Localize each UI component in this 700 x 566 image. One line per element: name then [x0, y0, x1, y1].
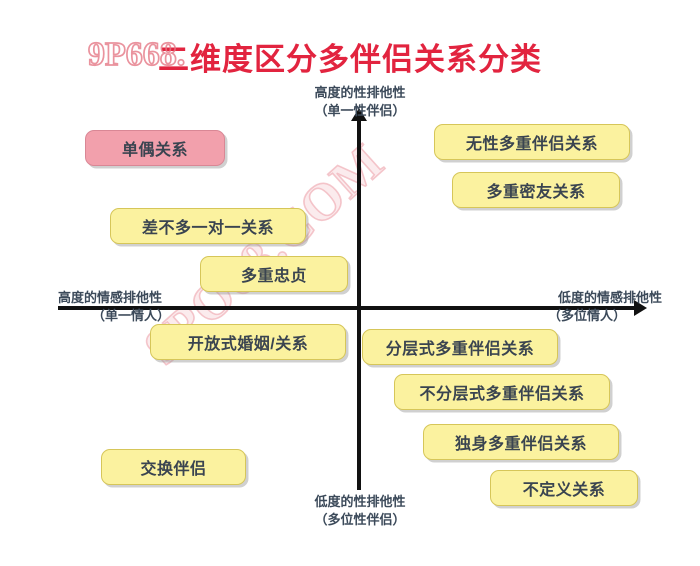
category-node[interactable]: 单偶关系: [85, 130, 225, 166]
axis-label-right-line1: 低度的情感排他性: [558, 290, 662, 305]
axis-label-top-line1: 高度的性排他性: [314, 85, 405, 100]
category-node[interactable]: 多重密友关系: [452, 172, 620, 208]
axis-label-left-line2: （单一情人）: [58, 307, 204, 325]
category-node[interactable]: 分层式多重伴侣关系: [362, 329, 558, 365]
page-title: 二维度区分多伴侣关系分类: [0, 34, 700, 79]
diagram-canvas: 二维度区分多伴侣关系分类 9P668. 9PO68.COM 高度的性排他性 （单…: [0, 0, 700, 566]
category-node[interactable]: 交换伴侣: [101, 449, 246, 485]
category-node[interactable]: 开放式婚姻/关系: [150, 324, 346, 360]
category-node[interactable]: 多重忠贞: [200, 256, 348, 292]
vertical-axis-line: [357, 118, 361, 490]
category-node[interactable]: 不分层式多重伴侣关系: [394, 374, 610, 410]
axis-label-top: 高度的性排他性 （单一性伴侣）: [285, 84, 435, 120]
axis-label-left: 高度的情感排他性 （单一情人）: [58, 289, 204, 325]
axis-label-right-line2: （多位情人）: [512, 307, 662, 325]
axis-label-top-line2: （单一性伴侣）: [285, 102, 435, 120]
axis-label-right: 低度的情感排他性 （多位情人）: [512, 289, 662, 325]
category-node[interactable]: 独身多重伴侣关系: [423, 424, 619, 460]
category-node[interactable]: 无性多重伴侣关系: [434, 124, 630, 160]
axis-label-bottom-line2: （多位性伴侣）: [285, 511, 435, 529]
axis-label-bottom-line1: 低度的性排他性: [314, 494, 405, 509]
axis-label-left-line1: 高度的情感排他性: [58, 290, 162, 305]
category-node[interactable]: 不定义关系: [490, 470, 638, 506]
category-node[interactable]: 差不多一对一关系: [110, 208, 306, 244]
axis-label-bottom: 低度的性排他性 （多位性伴侣）: [285, 493, 435, 529]
